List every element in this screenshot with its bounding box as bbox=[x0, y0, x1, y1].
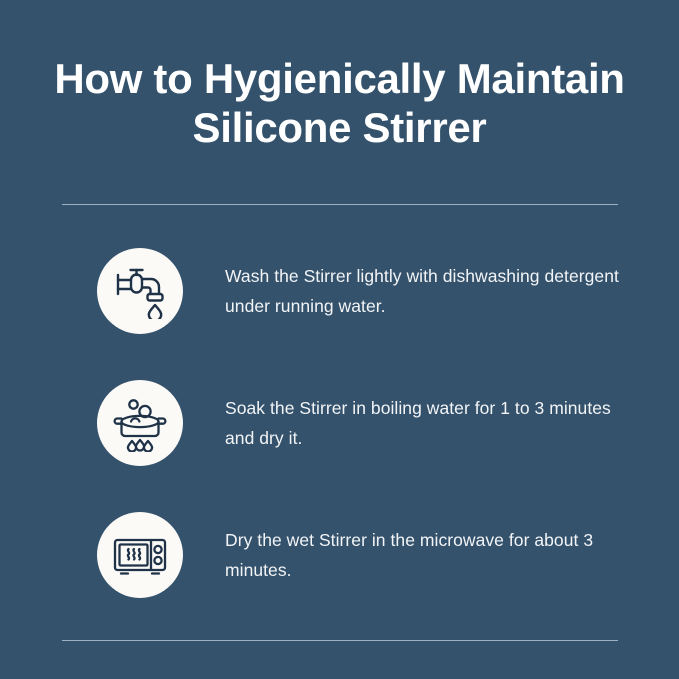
list-item: Wash the Stirrer lightly with dishwashin… bbox=[0, 236, 679, 346]
steps-list: Wash the Stirrer lightly with dishwashin… bbox=[0, 236, 679, 632]
divider-bottom bbox=[62, 640, 618, 641]
list-item: Dry the wet Stirrer in the microwave for… bbox=[0, 500, 679, 610]
step-3-icon-badge bbox=[97, 512, 183, 598]
divider-top bbox=[62, 204, 618, 205]
step-1-text: Wash the Stirrer lightly with dishwashin… bbox=[225, 261, 625, 321]
step-3-text: Dry the wet Stirrer in the microwave for… bbox=[225, 525, 625, 585]
list-item: Soak the Stirrer in boiling water for 1 … bbox=[0, 368, 679, 478]
faucet-water-drop-icon bbox=[112, 263, 168, 319]
step-1-icon-badge bbox=[97, 248, 183, 334]
step-2-icon-badge bbox=[97, 380, 183, 466]
infographic-page: How to Hygienically Maintain Silicone St… bbox=[0, 0, 679, 679]
page-title-line-1: How to Hygienically Maintain bbox=[40, 54, 639, 103]
microwave-icon bbox=[111, 526, 169, 584]
page-title-line-2: Silicone Stirrer bbox=[40, 103, 639, 152]
page-title: How to Hygienically Maintain Silicone St… bbox=[0, 54, 679, 152]
boiling-pot-icon bbox=[111, 394, 169, 452]
step-2-text: Soak the Stirrer in boiling water for 1 … bbox=[225, 393, 625, 453]
